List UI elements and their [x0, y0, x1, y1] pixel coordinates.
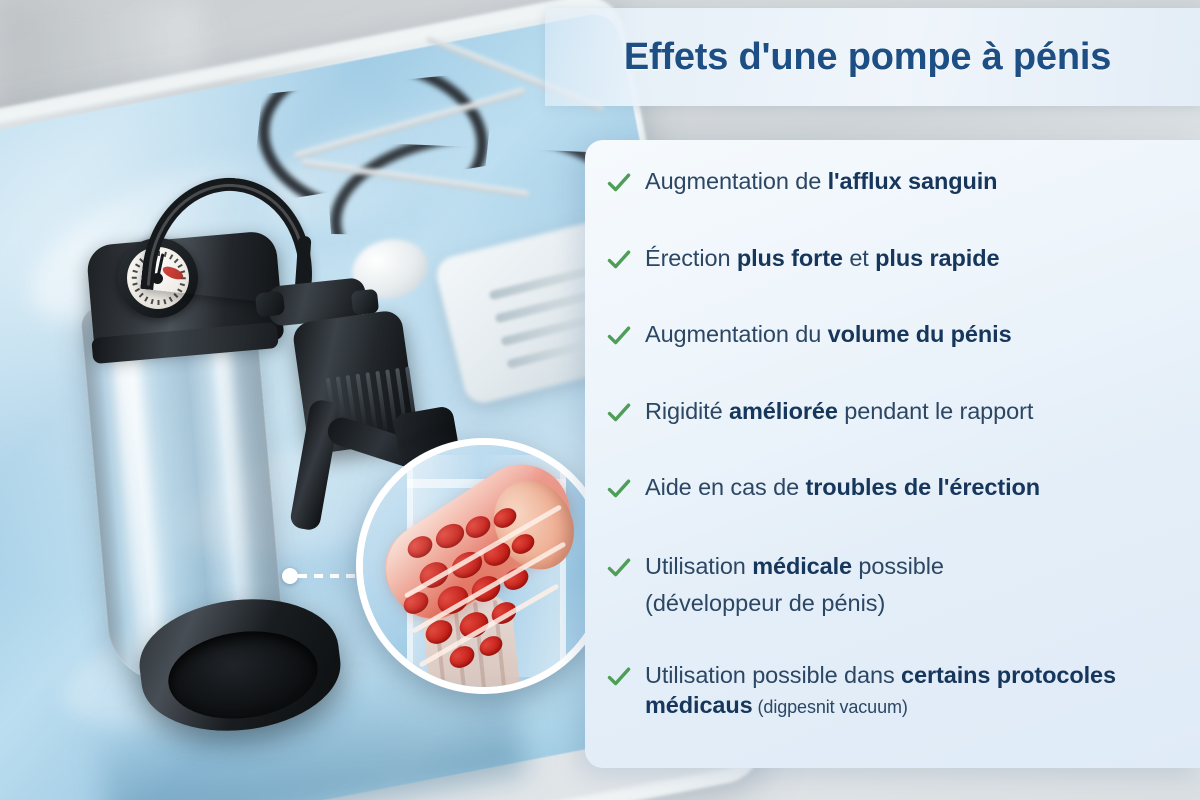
benefit-item-medical-protocols: Utilisation possible dans certains proto… [604, 660, 1184, 720]
anatomy-magnifier-inset [356, 438, 612, 694]
benefit-item-rigidity: Rigidité améliorée pendant le rapport [604, 396, 1184, 427]
magnifier-content [363, 445, 605, 687]
benefit-highlight: l'afflux sanguin [828, 168, 998, 194]
benefit-text-wrap: Érection plus forte et plus rapide [645, 243, 999, 274]
benefit-label: Aide en cas de troubles de l'érection [645, 472, 1040, 503]
benefit-text-wrap: Rigidité améliorée pendant le rapport [645, 396, 1033, 427]
benefit-label: Utilisation possible dans certains proto… [645, 660, 1184, 720]
hose-highlight [147, 176, 316, 302]
benefit-highlight: volume du pénis [828, 321, 1012, 347]
benefit-label: Augmentation du volume du pénis [645, 319, 1012, 350]
benefit-highlight: troubles de l'érection [806, 474, 1041, 500]
benefit-plain: Augmentation de [645, 168, 828, 194]
check-icon [606, 555, 632, 581]
benefit-text-wrap: Augmentation du volume du pénis [645, 319, 1012, 350]
benefit-text-wrap: Aide en cas de troubles de l'érection [645, 472, 1040, 503]
infographic-root: Effets d'une pompe à pénis Augmentation … [0, 0, 1200, 800]
benefit-plain: (digpesnit vacuum) [753, 697, 908, 717]
pump-trigger [289, 398, 341, 531]
benefit-text-wrap: Utilisation possible dans certains proto… [645, 660, 1184, 720]
check-icon [606, 170, 632, 196]
benefit-plain: Utilisation possible dans [645, 662, 901, 688]
valve-knob [351, 289, 379, 316]
check-icon [606, 247, 632, 273]
benefit-highlight: améliorée [729, 398, 838, 424]
benefit-plain: Augmentation du [645, 321, 828, 347]
check-icon [606, 476, 632, 502]
benefit-item-erectile-dysfunction: Aide en cas de troubles de l'érection [604, 472, 1184, 503]
benefit-item-stronger-faster-erection: Érection plus forte et plus rapide [604, 243, 1184, 274]
benefits-list: Augmentation de l'afflux sanguinÉrection… [604, 152, 1184, 762]
benefit-item-penis-volume: Augmentation du volume du pénis [604, 319, 1184, 350]
benefit-plain: Utilisation [645, 553, 752, 579]
benefit-item-blood-flow: Augmentation de l'afflux sanguin [604, 166, 1184, 197]
benefit-label: Utilisation médicale possible [645, 551, 944, 582]
benefit-item-medical-use: Utilisation médicale possible(développeu… [604, 551, 1184, 618]
benefit-plain: possible [852, 553, 944, 579]
valve-stub [255, 291, 285, 318]
benefit-text-wrap: Augmentation de l'afflux sanguin [645, 166, 997, 197]
benefit-plain: Érection [645, 245, 737, 271]
benefit-label: Rigidité améliorée pendant le rapport [645, 396, 1033, 427]
benefit-text-wrap: Utilisation médicale possible(développeu… [645, 551, 944, 618]
benefit-subtext: (développeur de pénis) [645, 588, 944, 619]
benefit-label: Augmentation de l'afflux sanguin [645, 166, 997, 197]
benefit-plain: Rigidité [645, 398, 729, 424]
page-title: Effets d'une pompe à pénis [545, 8, 1200, 106]
check-icon [606, 664, 632, 690]
check-icon [606, 400, 632, 426]
benefit-plain: et [843, 245, 875, 271]
benefit-highlight: médicale [752, 553, 852, 579]
benefit-highlight: plus rapide [875, 245, 999, 271]
benefit-label: Érection plus forte et plus rapide [645, 243, 999, 274]
callout-anchor-dot [282, 568, 298, 584]
check-icon [606, 323, 632, 349]
benefit-plain: pendant le rapport [838, 398, 1033, 424]
benefit-highlight: plus forte [737, 245, 843, 271]
benefit-plain: Aide en cas de [645, 474, 806, 500]
